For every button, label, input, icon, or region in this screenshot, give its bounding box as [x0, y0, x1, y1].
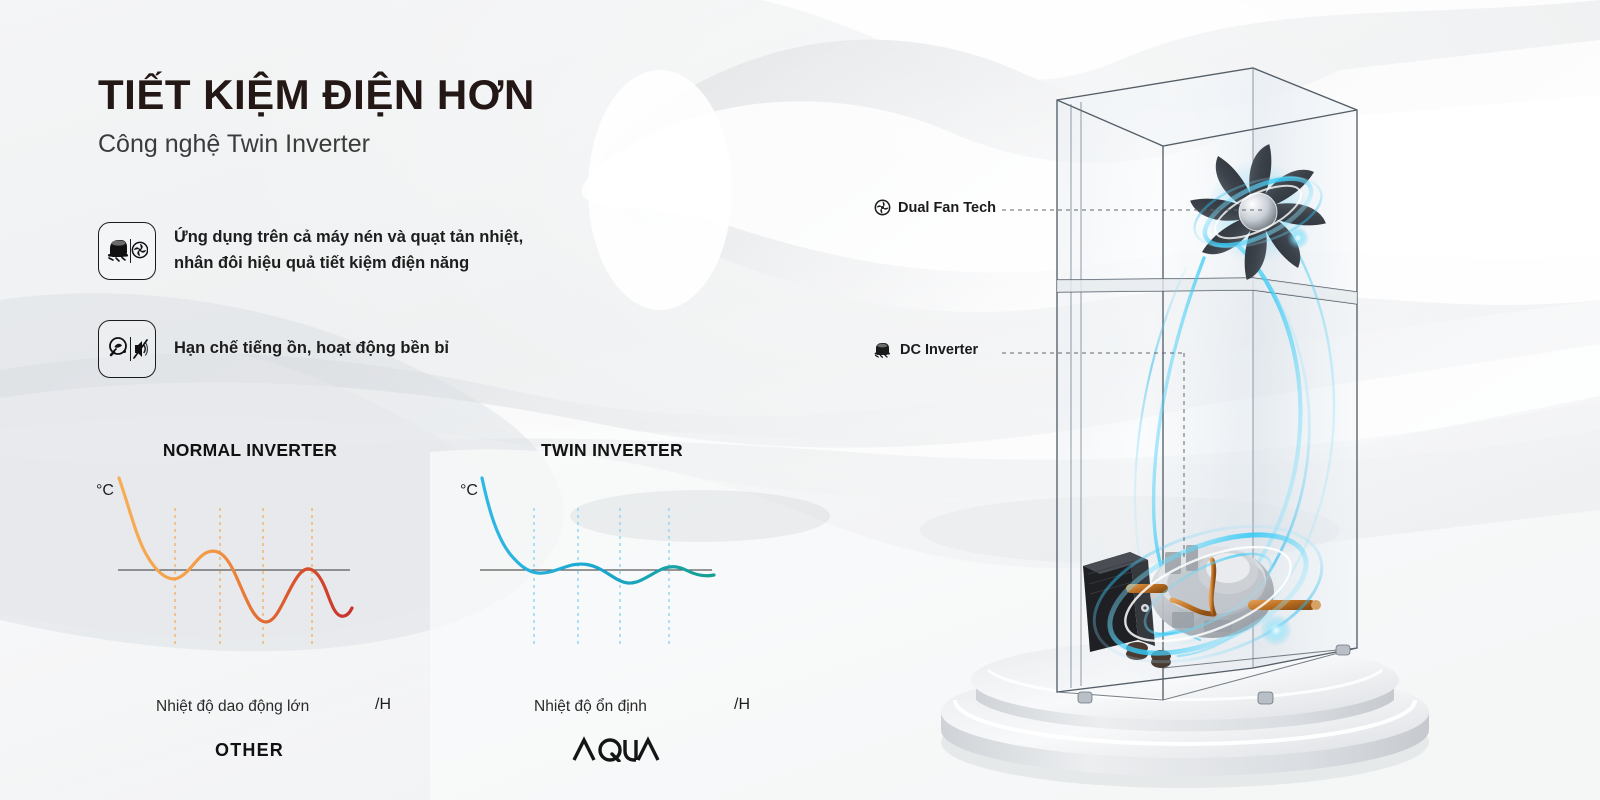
- mute-speaker-icon: [134, 340, 147, 358]
- chart-brand-other: OTHER: [215, 740, 284, 761]
- feature-item-low-noise: Hạn chế tiếng ồn, hoạt động bền bỉ: [98, 320, 449, 378]
- chart-normal-inverter: NORMAL INVERTER °C: [100, 440, 430, 730]
- chart-twin-inverter: TWIN INVERTER °C: [462, 440, 792, 730]
- compressor-icon: [108, 240, 128, 261]
- feature-icon-box-2: [98, 320, 156, 378]
- fan-icon: [132, 242, 147, 257]
- feature-icon-box-1: [98, 222, 156, 280]
- quiet-compressor-icon: [110, 338, 126, 355]
- page-subtitle: Công nghệ Twin Inverter: [98, 130, 370, 159]
- callout-dual-fan-tech: Dual Fan Tech: [874, 199, 996, 216]
- left-content-panel: TIẾT KIỆM ĐIỆN HƠN Công nghệ Twin Invert…: [0, 0, 850, 800]
- page-title: TIẾT KIỆM ĐIỆN HƠN: [98, 72, 535, 118]
- feature-text-1: Ứng dụng trên cả máy nén và quạt tản nhi…: [174, 225, 523, 276]
- x-axis-unit-normal: /H: [375, 696, 391, 714]
- callout-label-dc-inverter: DC Inverter: [900, 342, 978, 358]
- chart-caption-twin: Nhiệt độ ổn định: [534, 698, 647, 716]
- chart-plot-twin: [462, 470, 752, 680]
- fan-circle-icon: [874, 199, 891, 216]
- callout-label-dual-fan: Dual Fan Tech: [898, 200, 996, 216]
- chart-caption-normal: Nhiệt độ dao động lớn: [156, 698, 309, 716]
- x-axis-unit-twin: /H: [734, 696, 750, 714]
- aqua-logo: [572, 736, 660, 767]
- feature-item-compressor-fan: Ứng dụng trên cả máy nén và quạt tản nhi…: [98, 222, 523, 280]
- feature-text-2: Hạn chế tiếng ồn, hoạt động bền bỉ: [174, 336, 449, 362]
- callout-dc-inverter: DC Inverter: [874, 342, 978, 358]
- chart-plot-normal: [100, 470, 390, 680]
- compressor-icon: [874, 342, 893, 358]
- refrigerator-cutaway: [1057, 68, 1357, 704]
- chart-title-normal: NORMAL INVERTER: [150, 440, 350, 461]
- chart-title-twin: TWIN INVERTER: [502, 440, 722, 461]
